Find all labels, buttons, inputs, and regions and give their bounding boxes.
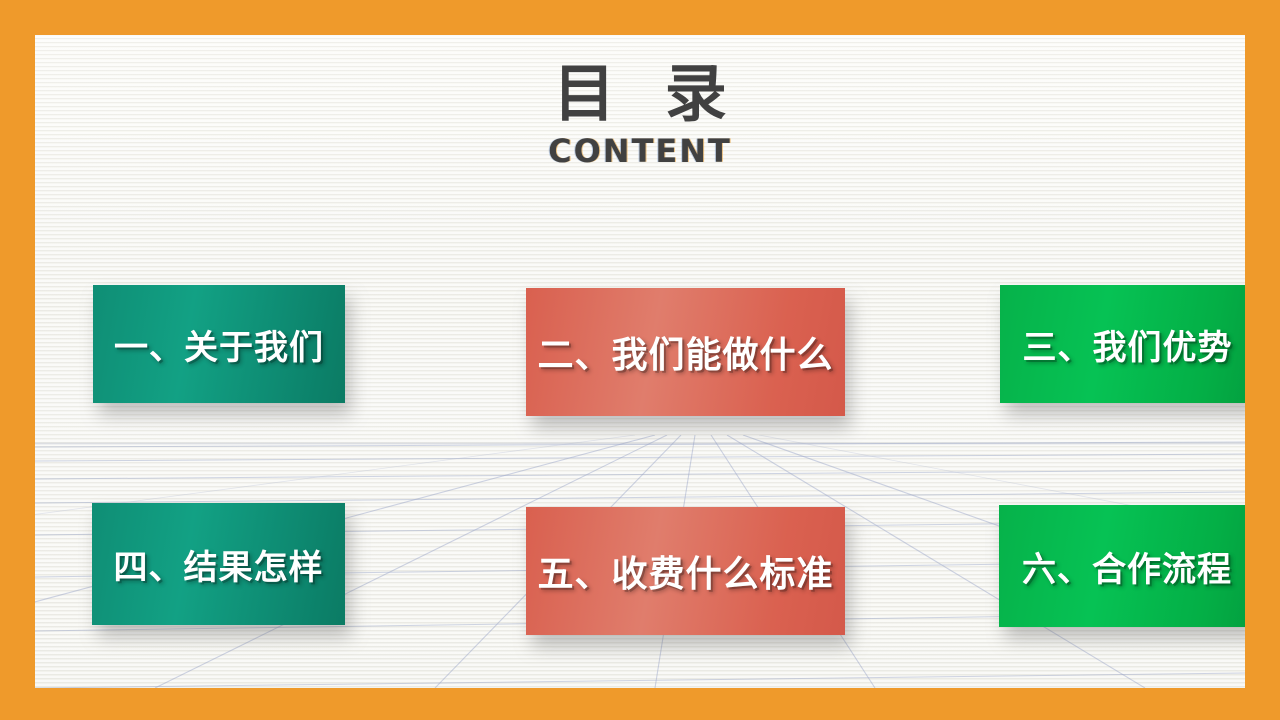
content-box-5-label: 五、收费什么标准 bbox=[537, 545, 833, 597]
page-subtitle: CONTENT bbox=[35, 132, 1245, 170]
title-block: 目 录 CONTENT bbox=[35, 59, 1245, 170]
content-box-3[interactable]: 三、我们优势 bbox=[1000, 285, 1245, 403]
content-box-5[interactable]: 五、收费什么标准 bbox=[526, 507, 845, 635]
content-box-6-label: 六、合作流程 bbox=[1022, 542, 1232, 591]
content-box-6[interactable]: 六、合作流程 bbox=[999, 505, 1245, 627]
content-box-2-label: 二、我们能做什么 bbox=[537, 326, 833, 378]
content-box-4-label: 四、结果怎样 bbox=[114, 540, 324, 589]
content-box-2[interactable]: 二、我们能做什么 bbox=[526, 288, 845, 416]
page-title: 目 录 bbox=[35, 59, 1245, 128]
slide-inner-area: 目 录 CONTENT 一、关于我们 二、我们能做什么 三、我们优势 四、结果怎… bbox=[35, 35, 1245, 688]
content-box-1-label: 一、关于我们 bbox=[114, 320, 324, 369]
content-box-3-label: 三、我们优势 bbox=[1023, 320, 1233, 369]
slide-canvas: 目 录 CONTENT 一、关于我们 二、我们能做什么 三、我们优势 四、结果怎… bbox=[0, 0, 1280, 720]
content-box-1[interactable]: 一、关于我们 bbox=[93, 285, 345, 403]
content-box-4[interactable]: 四、结果怎样 bbox=[92, 503, 345, 625]
